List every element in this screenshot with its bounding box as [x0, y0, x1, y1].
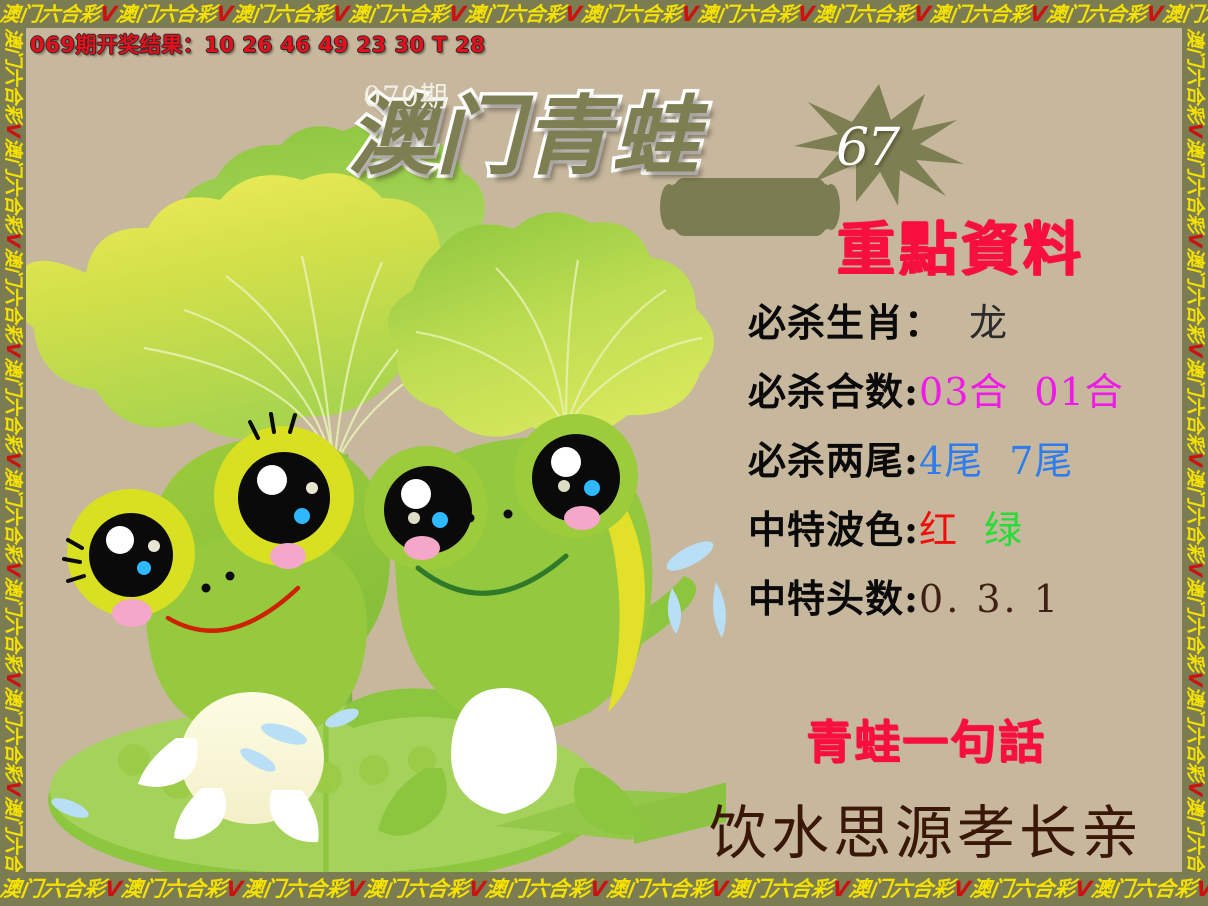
border-unit-text: 澳门六合彩 [1090, 877, 1198, 901]
panel-row-value: 红 [919, 499, 958, 554]
border-unit-text: 澳门六合彩 [2, 467, 24, 562]
border-unit-text: 澳门六合彩 [120, 877, 228, 901]
border-unit-text: 澳门六合彩 [2, 577, 24, 672]
border-unit-text: 澳门六合彩 [1184, 138, 1206, 233]
border-separator: V [2, 342, 24, 357]
panel-row: 必杀两尾:4尾7尾 [726, 430, 1182, 485]
border-unit-text: 澳门六合彩 [696, 2, 799, 26]
panel-row-value: 7尾 [1009, 430, 1073, 485]
panel-rows: 必杀生肖：龙必杀合数:03合01合必杀两尾:4尾7尾中特波色:红绿中特头数:0.… [726, 292, 1182, 623]
border-unit-text: 澳门六合彩 [847, 877, 955, 901]
poster-content: 069期开奖结果：10 26 46 49 23 30 T 28 [26, 28, 1182, 872]
border-unit-text: 澳门六合彩 [1161, 2, 1208, 26]
border-unit-text: 澳门六合彩 [231, 2, 334, 26]
border-unit-text: 澳门六合彩 [2, 28, 24, 123]
panel-row-label: 必杀合数: [748, 361, 919, 416]
border-unit-text: 澳门六合彩 [0, 2, 102, 26]
border-right: 澳门六合彩V澳门六合彩V澳门六合彩V澳门六合彩V澳门六合彩V澳门六合彩V澳门六合… [1182, 28, 1208, 872]
border-separator: V [2, 123, 24, 138]
panel-row-value: 龙 [969, 292, 1008, 347]
panel-row: 中特头数:0. 3. 1 [726, 568, 1182, 623]
border-unit-text: 澳门六合彩 [1184, 577, 1206, 672]
border-unit-text: 澳门六合彩 [483, 877, 591, 901]
panel-row: 中特波色:红绿 [726, 499, 1182, 554]
panel-row-value: 01合 [1034, 361, 1123, 416]
border-right-text: 澳门六合彩V澳门六合彩V澳门六合彩V澳门六合彩V澳门六合彩V澳门六合彩V澳门六合… [1182, 28, 1208, 872]
lottery-poster: 澳门六合彩V澳门六合彩V澳门六合彩V澳门六合彩V澳门六合彩V澳门六合彩V澳门六合… [0, 0, 1208, 906]
border-separator: V [2, 452, 24, 467]
border-unit-text: 澳门六合彩 [812, 2, 915, 26]
border-unit-text: 澳门六合彩 [463, 2, 566, 26]
border-separator: V [1184, 123, 1206, 138]
panel-row-value: 0. 3. 1 [919, 577, 1061, 621]
burst-number: 67 [836, 118, 898, 178]
panel-row: 必杀合数:03合01合 [726, 361, 1182, 416]
panel-heading: 重點資料 [726, 220, 1182, 278]
footer-heading: 青蛙一句話 [666, 706, 1182, 772]
border-separator: V [1184, 672, 1206, 687]
border-unit-text: 澳门六合彩 [1184, 357, 1206, 452]
border-unit-text: 澳门六合彩 [2, 247, 24, 342]
border-unit-text: 澳门六合彩 [580, 2, 683, 26]
border-separator: V [1195, 877, 1208, 901]
border-top: 澳门六合彩V澳门六合彩V澳门六合彩V澳门六合彩V澳门六合彩V澳门六合彩V澳门六合… [0, 0, 1208, 28]
panel-row-label: 中特头数: [748, 568, 919, 623]
footer-phrase: 饮水思源孝长亲 [666, 786, 1182, 870]
border-separator: V [2, 781, 24, 796]
border-top-text: 澳门六合彩V澳门六合彩V澳门六合彩V澳门六合彩V澳门六合彩V澳门六合彩V澳门六合… [0, 0, 1208, 28]
border-unit-text: 澳门六合彩 [1184, 686, 1206, 781]
border-separator: V [1184, 562, 1206, 577]
key-info-panel: 重點資料 必杀生肖：龙必杀合数:03合01合必杀两尾:4尾7尾中特波色:红绿中特… [726, 220, 1182, 623]
footer-block: 青蛙一句話 饮水思源孝长亲 [666, 706, 1182, 870]
panel-row: 必杀生肖：龙 [726, 292, 1182, 347]
border-unit-text: 澳门六合彩 [726, 877, 834, 901]
panel-row-value: 绿 [984, 499, 1023, 554]
border-separator: V [1184, 233, 1206, 248]
border-separator: V [2, 233, 24, 248]
border-unit-text: 澳门六合彩 [115, 2, 218, 26]
border-unit-text: 澳门六合彩 [2, 686, 24, 781]
border-unit-text: 澳门六合彩 [928, 2, 1031, 26]
border-separator: V [1184, 781, 1206, 796]
border-unit-text: 澳门六合彩 [241, 877, 349, 901]
frog-illustration [26, 48, 726, 872]
border-unit-text: 澳门六合彩 [347, 2, 450, 26]
border-separator: V [2, 562, 24, 577]
border-separator: V [2, 672, 24, 687]
panel-row-label: 必杀两尾: [748, 430, 919, 485]
border-separator: V [1184, 452, 1206, 467]
border-left-text: 澳门六合彩V澳门六合彩V澳门六合彩V澳门六合彩V澳门六合彩V澳门六合彩V澳门六合… [0, 28, 26, 872]
starburst-icon [794, 84, 964, 206]
border-unit-text: 澳门六合彩 [1184, 467, 1206, 562]
border-unit-text: 澳门六合彩 [1184, 28, 1206, 123]
panel-row-value: 03合 [919, 361, 1008, 416]
border-unit-text: 澳门六合彩 [968, 877, 1076, 901]
border-unit-text: 澳门六合彩 [605, 877, 713, 901]
border-unit-text: 澳门六合彩 [0, 877, 107, 901]
border-unit-text: 澳门六合彩 [2, 357, 24, 452]
border-unit-text: 澳门六合彩 [1184, 247, 1206, 342]
panel-row-label: 必杀生肖： [748, 292, 943, 347]
border-unit-text: 澳门六合彩 [1045, 2, 1148, 26]
panel-row-value: 4尾 [919, 430, 983, 485]
border-separator: V [1184, 342, 1206, 357]
border-left: 澳门六合彩V澳门六合彩V澳门六合彩V澳门六合彩V澳门六合彩V澳门六合彩V澳门六合… [0, 28, 26, 872]
border-bottom: 澳门六合彩V澳门六合彩V澳门六合彩V澳门六合彩V澳门六合彩V澳门六合彩V澳门六合… [0, 872, 1208, 906]
border-unit-text: 澳门六合彩 [2, 138, 24, 233]
border-unit-text: 澳门六合彩 [362, 877, 470, 901]
border-bottom-text: 澳门六合彩V澳门六合彩V澳门六合彩V澳门六合彩V澳门六合彩V澳门六合彩V澳门六合… [0, 872, 1208, 906]
border-unit-text: 澳门六合彩 [2, 796, 24, 872]
panel-row-label: 中特波色: [748, 499, 919, 554]
border-unit-text: 澳门六合彩 [1184, 796, 1206, 872]
